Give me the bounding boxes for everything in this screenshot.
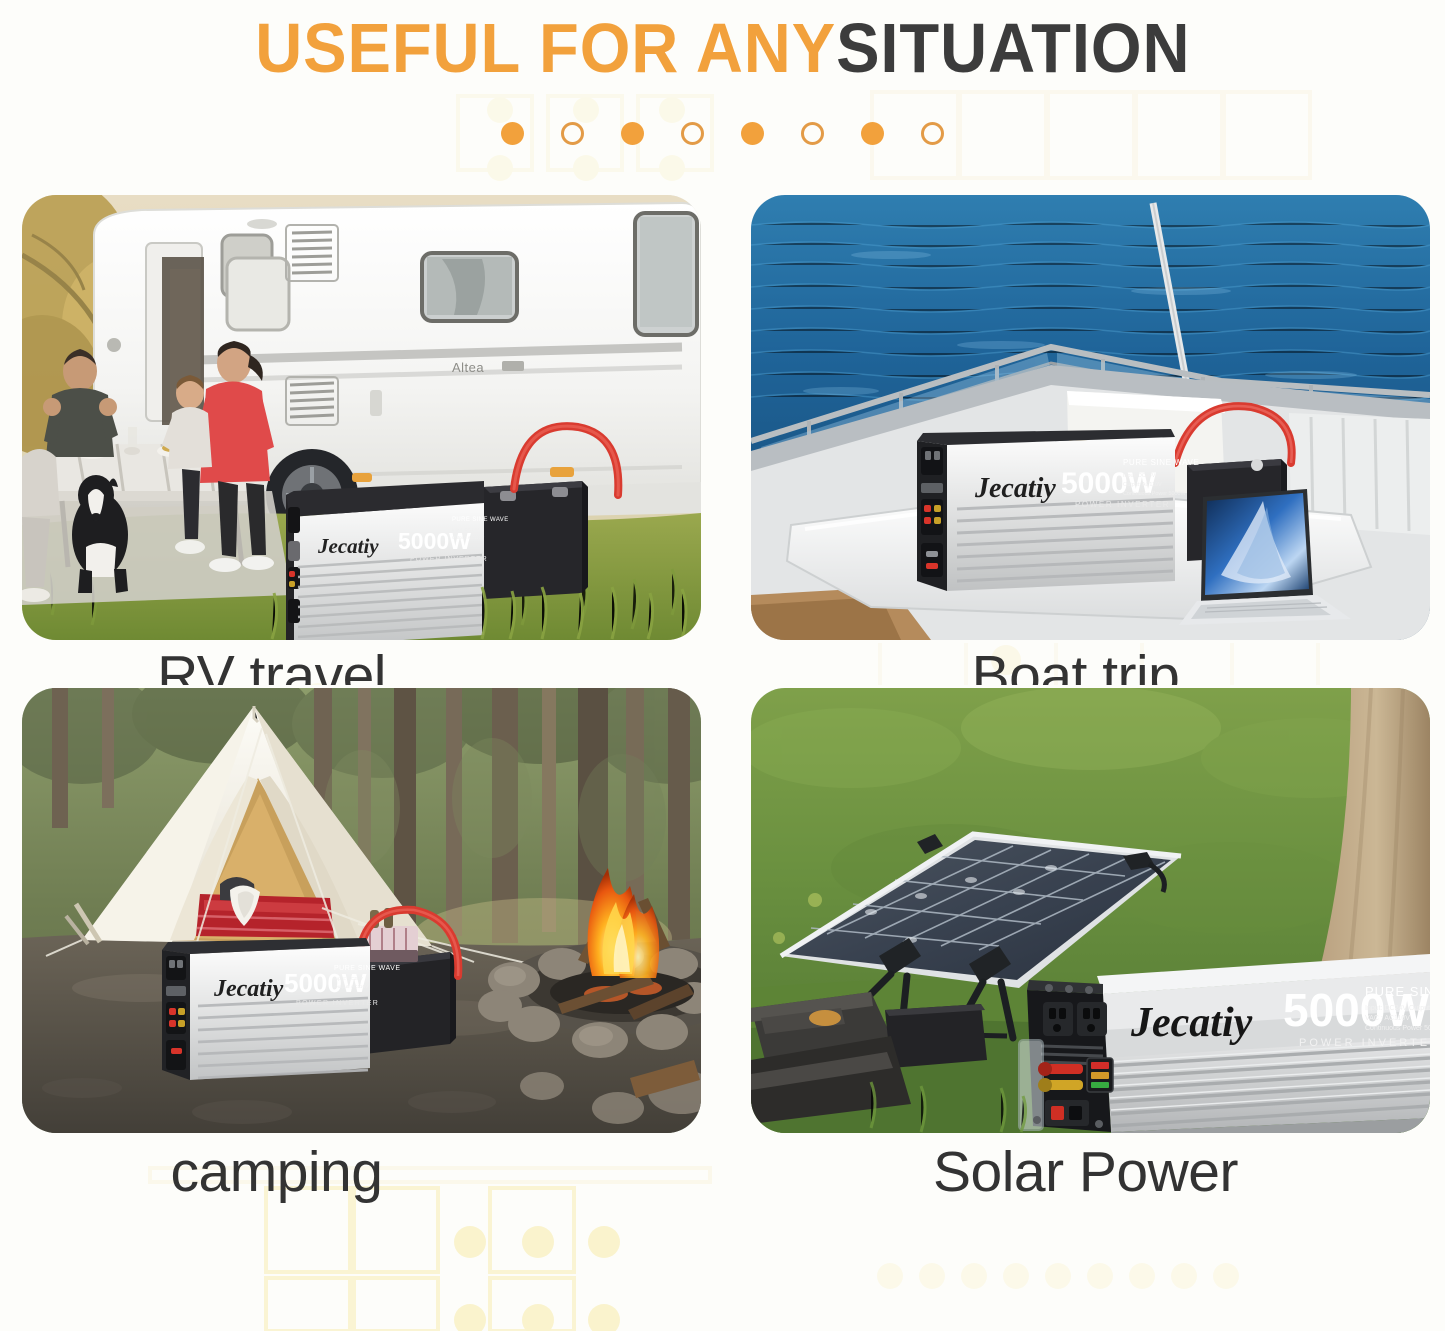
dot-filled-2 — [621, 122, 644, 145]
dot-hollow-1 — [561, 122, 584, 145]
title-part-dark: SITUATION — [836, 9, 1190, 87]
page-header: USEFUL FOR ANYSITUATION — [0, 0, 1445, 95]
svg-text:Input: DC24V: Input: DC24V — [452, 527, 479, 532]
svg-text:Altea: Altea — [452, 360, 484, 375]
svg-text:Continuous Power 5000W: Continuous Power 5000W — [1123, 491, 1187, 497]
dot-filled-3 — [741, 122, 764, 145]
photo-solar-power: Jecatiy 5000W POWER INVERTER PURE SINE W… — [751, 688, 1430, 1133]
svg-text:POWER INVERTER: POWER INVERTER — [410, 556, 488, 563]
scenario-card-camping: Jecatiy 5000W POWER INVERTER PURE SINE W… — [22, 688, 701, 1143]
svg-text:Jecatiy: Jecatiy — [317, 534, 379, 558]
svg-text:Jecatiy: Jecatiy — [974, 473, 1056, 504]
svg-text:PURE SINE WAVE: PURE SINE WAVE — [1123, 458, 1199, 467]
svg-text:Jecatiy: Jecatiy — [213, 976, 284, 1002]
dot-hollow-4 — [921, 122, 944, 145]
scenario-grid: Altea — [22, 195, 1430, 1315]
svg-text:POWER INVERTER: POWER INVERTER — [296, 1000, 379, 1007]
scenario-card-rv-travel: Altea — [22, 195, 701, 650]
svg-text:PURE SINE WAVE: PURE SINE WAVE — [452, 517, 509, 523]
caption-solar-power: Solar Power — [751, 1143, 1430, 1203]
svg-text:PURE SINE WAVE: PURE SINE WAVE — [334, 965, 401, 972]
scenario-card-solar-power: Jecatiy 5000W POWER INVERTER PURE SINE W… — [751, 688, 1430, 1143]
svg-text:VAC : AC110V: VAC : AC110V — [1365, 1015, 1410, 1022]
svg-text:Output: AC110V: Output: AC110V — [452, 535, 484, 540]
svg-text:Input: DC24V: Input: DC24V — [1123, 473, 1156, 479]
svg-text:Input: DC24V Output: AC110V: Input: DC24V Output: AC110V — [1365, 1005, 1430, 1012]
svg-text:Continuous Power 5000W: Continuous Power 5000W — [1365, 1025, 1430, 1032]
dot-hollow-2 — [681, 122, 704, 145]
title-part-orange: USEFUL FOR ANY — [255, 9, 836, 87]
photo-camping: Jecatiy 5000W POWER INVERTER PURE SINE W… — [22, 688, 701, 1133]
svg-text:Input: DC24V: Input: DC24V — [334, 976, 364, 982]
scenario-card-boat-trip: Jecatiy 5000W POWER INVERTER PURE SINE W… — [751, 195, 1430, 650]
svg-text:Jecatiy: Jecatiy — [1130, 1000, 1253, 1046]
dot-hollow-3 — [801, 122, 824, 145]
dot-filled-1 — [501, 122, 524, 145]
decorative-dot-row — [0, 122, 1445, 145]
photo-rv-travel: Altea — [22, 195, 701, 640]
svg-text:POWER INVERTER: POWER INVERTER — [1299, 1037, 1430, 1049]
caption-camping: camping — [22, 1143, 701, 1203]
svg-text:Output: AC110V: Output: AC110V — [1123, 482, 1162, 488]
svg-text:POWER INVERTER: POWER INVERTER — [1075, 500, 1170, 509]
dot-filled-4 — [861, 122, 884, 145]
svg-text:Output: AC110V: Output: AC110V — [334, 984, 369, 990]
svg-text:PURE SINE WAVE: PURE SINE WAVE — [1365, 984, 1430, 999]
photo-boat-trip: Jecatiy 5000W POWER INVERTER PURE SINE W… — [751, 195, 1430, 640]
page-title: USEFUL FOR ANYSITUATION — [255, 13, 1190, 83]
svg-text:5000W: 5000W — [284, 968, 367, 998]
